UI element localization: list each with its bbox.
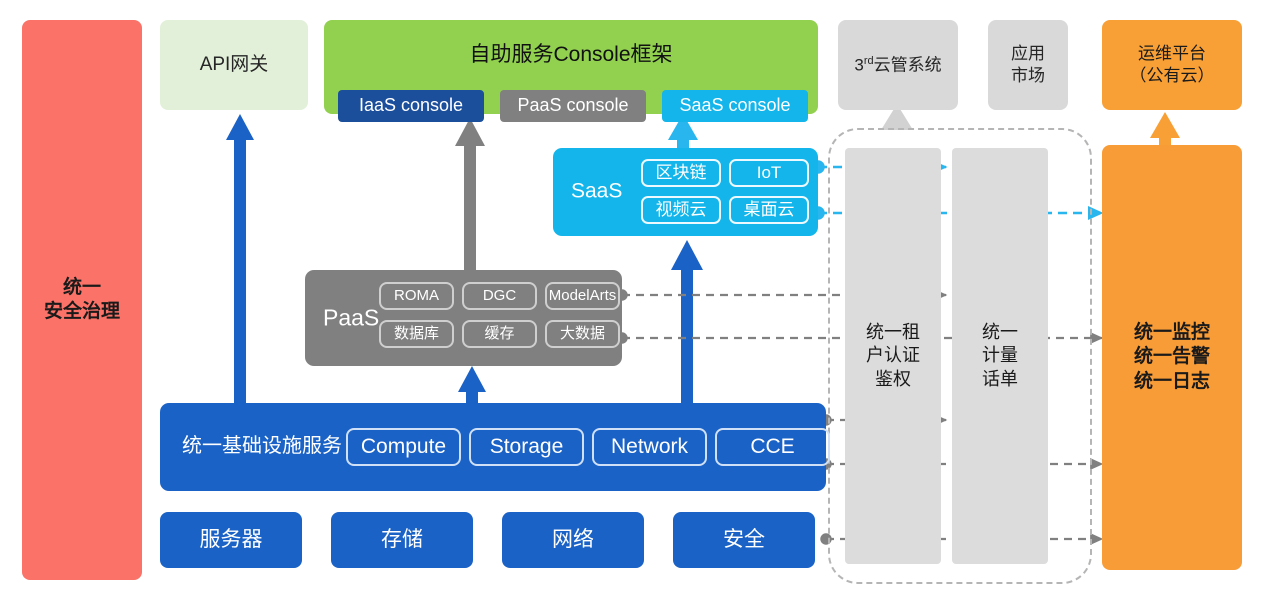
paas-item-cache[interactable]: 缓存: [462, 320, 537, 348]
saas-item-blockchain[interactable]: 区块链: [641, 159, 721, 187]
paas-panel[interactable]: PaaS ROMA DGC ModelArts 数据库 缓存 大数据: [305, 270, 622, 366]
chip-iaas-console[interactable]: IaaS console: [338, 90, 484, 122]
metering-line-3: 话单: [982, 368, 1018, 391]
paas-item-dgc-label: DGC: [483, 286, 516, 305]
infra-item-cce-label: CCE: [750, 434, 794, 461]
third-party-cloud-mgmt-label: 3rd云管系统: [854, 54, 941, 76]
metering-column-label: 统一 计量 话单: [982, 321, 1018, 390]
paas-item-database-label: 数据库: [394, 324, 439, 343]
hardware-item-security-label: 安全: [723, 527, 765, 554]
paas-item-modelarts[interactable]: ModelArts: [545, 282, 620, 310]
ops-column-line-3: 统一日志: [1134, 370, 1210, 394]
ops-platform-column[interactable]: 统一监控 统一告警 统一日志: [1102, 145, 1242, 570]
console-framework-title: 自助服务Console框架: [324, 42, 818, 69]
api-gateway-card[interactable]: API网关: [160, 20, 308, 110]
chip-paas-console-label: PaaS console: [517, 94, 628, 117]
saas-item-video-cloud-label: 视频云: [656, 199, 707, 221]
saas-label: SaaS: [571, 179, 622, 206]
hardware-item-server-label: 服务器: [200, 527, 263, 554]
third-party-cloud-mgmt-card[interactable]: 3rd云管系统: [838, 20, 958, 110]
paas-item-bigdata[interactable]: 大数据: [545, 320, 620, 348]
auth-column-label: 统一租 户认证 鉴权: [866, 321, 920, 390]
metering-line-2: 计量: [982, 344, 1018, 367]
shared-service-column-metering[interactable]: 统一 计量 话单: [952, 148, 1048, 564]
infra-item-storage-label: Storage: [490, 434, 564, 461]
paas-item-dgc[interactable]: DGC: [462, 282, 537, 310]
metering-line-1: 统一: [982, 321, 1018, 344]
infra-item-compute[interactable]: Compute: [346, 428, 461, 466]
paas-item-roma-label: ROMA: [394, 286, 439, 305]
saas-item-video-cloud[interactable]: 视频云: [641, 196, 721, 224]
unified-infrastructure-label: 统一基础设施服务: [182, 434, 342, 460]
hardware-item-storage[interactable]: 存储: [331, 512, 473, 568]
saas-item-desktop-cloud[interactable]: 桌面云: [729, 196, 809, 224]
app-market-card[interactable]: 应用 市场: [988, 20, 1068, 110]
shared-service-column-auth[interactable]: 统一租 户认证 鉴权: [845, 148, 941, 564]
app-market-line-1: 应用: [1011, 43, 1045, 65]
infra-item-compute-label: Compute: [361, 434, 446, 461]
paas-item-roma[interactable]: ROMA: [379, 282, 454, 310]
ops-column-line-2: 统一告警: [1134, 345, 1210, 369]
saas-item-iot-label: IoT: [757, 162, 782, 184]
ops-column-line-1: 统一监控: [1134, 321, 1210, 345]
chip-iaas-console-label: IaaS console: [359, 94, 463, 117]
app-market-line-2: 市场: [1011, 65, 1045, 87]
security-governance-label: 统一 安全治理: [44, 276, 120, 325]
arrow-ops-column-to-ops-platform: [1150, 112, 1180, 145]
paas-item-database[interactable]: 数据库: [379, 320, 454, 348]
security-line-2: 安全治理: [44, 300, 120, 324]
hardware-item-security[interactable]: 安全: [673, 512, 815, 568]
ops-platform-line-2: （公有云）: [1130, 65, 1215, 87]
chip-saas-console[interactable]: SaaS console: [662, 90, 808, 122]
paas-item-cache-label: 缓存: [484, 324, 514, 343]
arrow-infra-to-api-gateway: [226, 114, 254, 403]
api-gateway-label: API网关: [200, 53, 269, 77]
chip-paas-console[interactable]: PaaS console: [500, 90, 646, 122]
infra-item-network-label: Network: [611, 434, 688, 461]
hardware-item-network[interactable]: 网络: [502, 512, 644, 568]
paas-label: PaaS: [323, 303, 379, 332]
console-framework-panel[interactable]: 自助服务Console框架 IaaS console PaaS console …: [324, 20, 818, 114]
ops-column-label: 统一监控 统一告警 统一日志: [1134, 321, 1210, 394]
architecture-diagram: 统一 安全治理 API网关 自助服务Console框架 IaaS console…: [0, 0, 1265, 605]
arrow-infra-to-saas: [671, 240, 703, 403]
arrow-infra-to-paas: [458, 366, 486, 403]
ops-platform-card[interactable]: 运维平台 （公有云）: [1102, 20, 1242, 110]
hardware-item-network-label: 网络: [552, 527, 594, 554]
app-market-label: 应用 市场: [1011, 43, 1045, 87]
ops-platform-line-1: 运维平台: [1130, 43, 1215, 65]
paas-item-bigdata-label: 大数据: [560, 324, 605, 343]
hardware-item-server[interactable]: 服务器: [160, 512, 302, 568]
saas-item-iot[interactable]: IoT: [729, 159, 809, 187]
arrow-paas-to-console: [455, 118, 485, 270]
chip-saas-console-label: SaaS console: [679, 94, 790, 117]
auth-line-2: 户认证: [866, 344, 920, 367]
infra-item-cce[interactable]: CCE: [715, 428, 830, 466]
third-party-prefix: 3: [854, 55, 863, 74]
ops-platform-label: 运维平台 （公有云）: [1130, 43, 1215, 87]
saas-item-blockchain-label: 区块链: [656, 162, 707, 184]
unified-infrastructure-panel[interactable]: 统一基础设施服务 Compute Storage Network CCE: [160, 403, 826, 491]
hardware-item-storage-label: 存储: [381, 527, 423, 554]
security-line-1: 统一: [44, 276, 120, 300]
auth-line-1: 统一租: [866, 321, 920, 344]
security-governance-column[interactable]: 统一 安全治理: [22, 20, 142, 580]
infra-item-network[interactable]: Network: [592, 428, 707, 466]
third-party-suffix: 云管系统: [874, 55, 942, 74]
auth-line-3: 鉴权: [866, 368, 920, 391]
infra-item-storage[interactable]: Storage: [469, 428, 584, 466]
saas-item-desktop-cloud-label: 桌面云: [744, 199, 795, 221]
paas-item-modelarts-label: ModelArts: [549, 286, 617, 305]
third-party-sup: rd: [864, 55, 874, 67]
saas-panel[interactable]: SaaS 区块链 IoT 视频云 桌面云: [553, 148, 818, 236]
